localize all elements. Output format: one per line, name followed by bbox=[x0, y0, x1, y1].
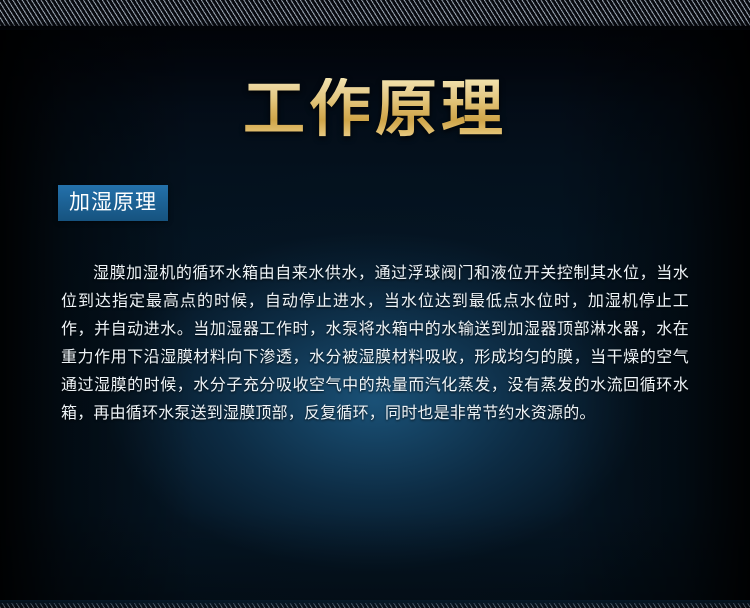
section-badge-humidification-principle: 加湿原理 bbox=[58, 185, 168, 221]
slide-canvas: 工作原理 加湿原理 湿膜加湿机的循环水箱由自来水供水，通过浮球阀门和液位开关控制… bbox=[0, 0, 750, 608]
carbon-stripe-bottom-fade bbox=[0, 600, 750, 608]
slide-content: 工作原理 加湿原理 湿膜加湿机的循环水箱由自来水供水，通过浮球阀门和液位开关控制… bbox=[0, 0, 750, 608]
body-paragraph: 湿膜加湿机的循环水箱由自来水供水，通过浮球阀门和液位开关控制其水位，当水位到达指… bbox=[61, 259, 689, 427]
page-title: 工作原理 bbox=[0, 78, 750, 140]
